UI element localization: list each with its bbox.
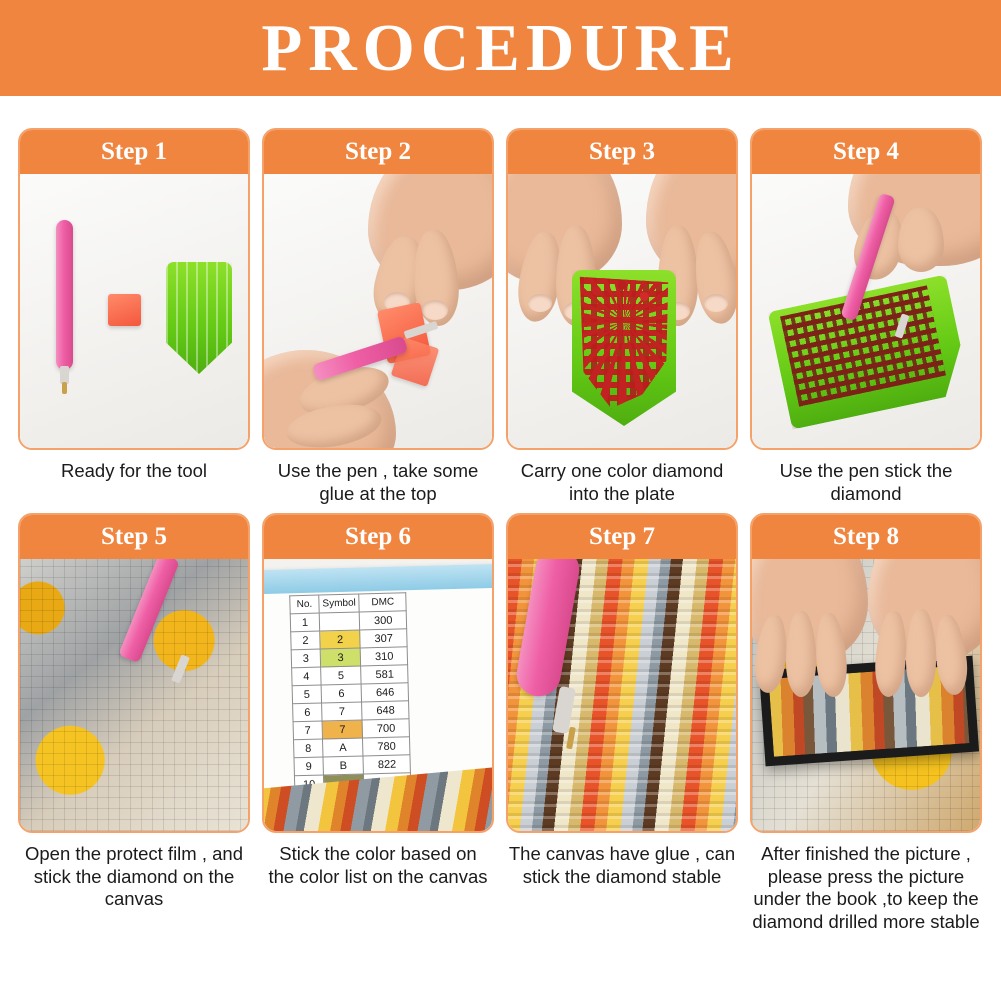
step-image-8 (752, 559, 980, 831)
step-caption-8: After finished the picture , please pres… (750, 843, 982, 933)
step-cell-2: Step 2 (262, 128, 494, 505)
step-badge-1: Step 1 (20, 130, 248, 174)
finger (898, 208, 944, 272)
cell-index: 8 (294, 739, 323, 758)
chart-header-bar (264, 564, 492, 594)
step-badge-label: Step 2 (345, 138, 411, 166)
step-image-1 (20, 174, 248, 448)
step-badge-3: Step 3 (508, 130, 736, 174)
step-cell-4: Step 4 Use the pen stick the diamond (750, 128, 982, 505)
cell-index: 3 (291, 649, 320, 668)
cell-symbol: 3 (320, 648, 361, 667)
glue-square (108, 294, 141, 326)
step-card-1: Step 1 (18, 128, 250, 450)
step-card-2: Step 2 (262, 128, 494, 450)
cell-dmc: 581 (361, 665, 408, 684)
pink-pen (56, 220, 73, 370)
step-caption-6: Stick the color based on the color list … (262, 843, 494, 888)
step-image-5 (20, 559, 248, 831)
step-cell-5: Step 5 Open the protect film , and stick… (18, 513, 250, 933)
step-cell-7: Step 7 The canvas have glue , can stick … (506, 513, 738, 933)
step-badge-label: Step 3 (589, 138, 655, 166)
step-badge-8: Step 8 (752, 515, 980, 559)
step-caption-1: Ready for the tool (18, 460, 250, 483)
cell-dmc: 310 (360, 647, 407, 666)
col-header-dmc: DMC (359, 593, 406, 612)
steps-grid: Step 1 Ready for the tool (18, 128, 983, 933)
step-caption-2: Use the pen , take some glue at the top (262, 460, 494, 505)
fingernail (704, 294, 728, 312)
step-caption-4: Use the pen stick the diamond (750, 460, 982, 505)
step-badge-label: Step 1 (101, 138, 167, 166)
step-image-6: No. Symbol DMC 1 300 (264, 559, 492, 831)
step-card-7: Step 7 (506, 513, 738, 833)
cell-symbol: 2 (320, 630, 361, 649)
step-badge-label: Step 6 (345, 523, 411, 551)
step-badge-4: Step 4 (752, 130, 980, 174)
cell-symbol: 7 (322, 720, 363, 739)
step-caption-7: The canvas have glue , can stick the dia… (506, 843, 738, 888)
step-badge-2: Step 2 (264, 130, 492, 174)
fingernail (528, 294, 552, 312)
cell-symbol: 5 (321, 666, 362, 685)
step-image-2 (264, 174, 492, 448)
cell-index: 1 (290, 613, 319, 632)
col-header-symbol: Symbol (319, 594, 360, 613)
step-badge-6: Step 6 (264, 515, 492, 559)
step-badge-label: Step 4 (833, 138, 899, 166)
step-image-7 (508, 559, 736, 831)
cell-index: 6 (293, 703, 322, 722)
pen-gold-tip (62, 382, 67, 394)
cell-symbol: B (323, 756, 364, 775)
step-image-4 (752, 174, 980, 448)
procedure-infographic: PROCEDURE Step 1 (0, 0, 1001, 1001)
cell-index: 2 (291, 631, 320, 650)
step-caption-3: Carry one color diamond into the plate (506, 460, 738, 505)
cell-dmc: 307 (360, 629, 407, 648)
cell-symbol: 7 (322, 702, 363, 721)
cell-index: 4 (292, 667, 321, 686)
step-card-8: Step 8 (750, 513, 982, 833)
cell-dmc: 646 (361, 683, 408, 702)
step-badge-5: Step 5 (20, 515, 248, 559)
cell-symbol (319, 612, 360, 631)
step-caption-5: Open the protect film , and stick the di… (18, 843, 250, 911)
step-badge-label: Step 5 (101, 523, 167, 551)
step-cell-1: Step 1 Ready for the tool (18, 128, 250, 505)
step-card-5: Step 5 (18, 513, 250, 833)
step-cell-6: Step 6 No. Symbol DMC (262, 513, 494, 933)
cell-dmc: 648 (362, 701, 409, 720)
header-banner: PROCEDURE (0, 0, 1001, 96)
step-image-3 (508, 174, 736, 448)
cell-index: 7 (293, 721, 322, 740)
fingernail (422, 300, 448, 320)
cell-symbol: 6 (321, 684, 362, 703)
step-card-4: Step 4 (750, 128, 982, 450)
finger (786, 611, 816, 697)
cell-index: 5 (292, 685, 321, 704)
page-title: PROCEDURE (261, 15, 739, 82)
step-badge-label: Step 8 (833, 523, 899, 551)
cell-dmc: 700 (362, 719, 409, 738)
cell-dmc: 300 (360, 611, 407, 630)
mosaic-grid (20, 559, 248, 831)
step-cell-3: Step 3 (506, 128, 738, 505)
color-chart-scene: No. Symbol DMC 1 300 (264, 559, 492, 831)
col-header-index: No. (290, 595, 319, 614)
cell-dmc: 822 (363, 755, 410, 774)
step-card-3: Step 3 (506, 128, 738, 450)
step-badge-7: Step 7 (508, 515, 736, 559)
step-card-6: Step 6 No. Symbol DMC (262, 513, 494, 833)
cell-index: 9 (294, 757, 323, 776)
cell-symbol: A (323, 738, 364, 757)
step-badge-label: Step 7 (589, 523, 655, 551)
finger (906, 609, 936, 697)
cell-dmc: 780 (363, 737, 410, 756)
step-cell-8: Step 8 (750, 513, 982, 933)
